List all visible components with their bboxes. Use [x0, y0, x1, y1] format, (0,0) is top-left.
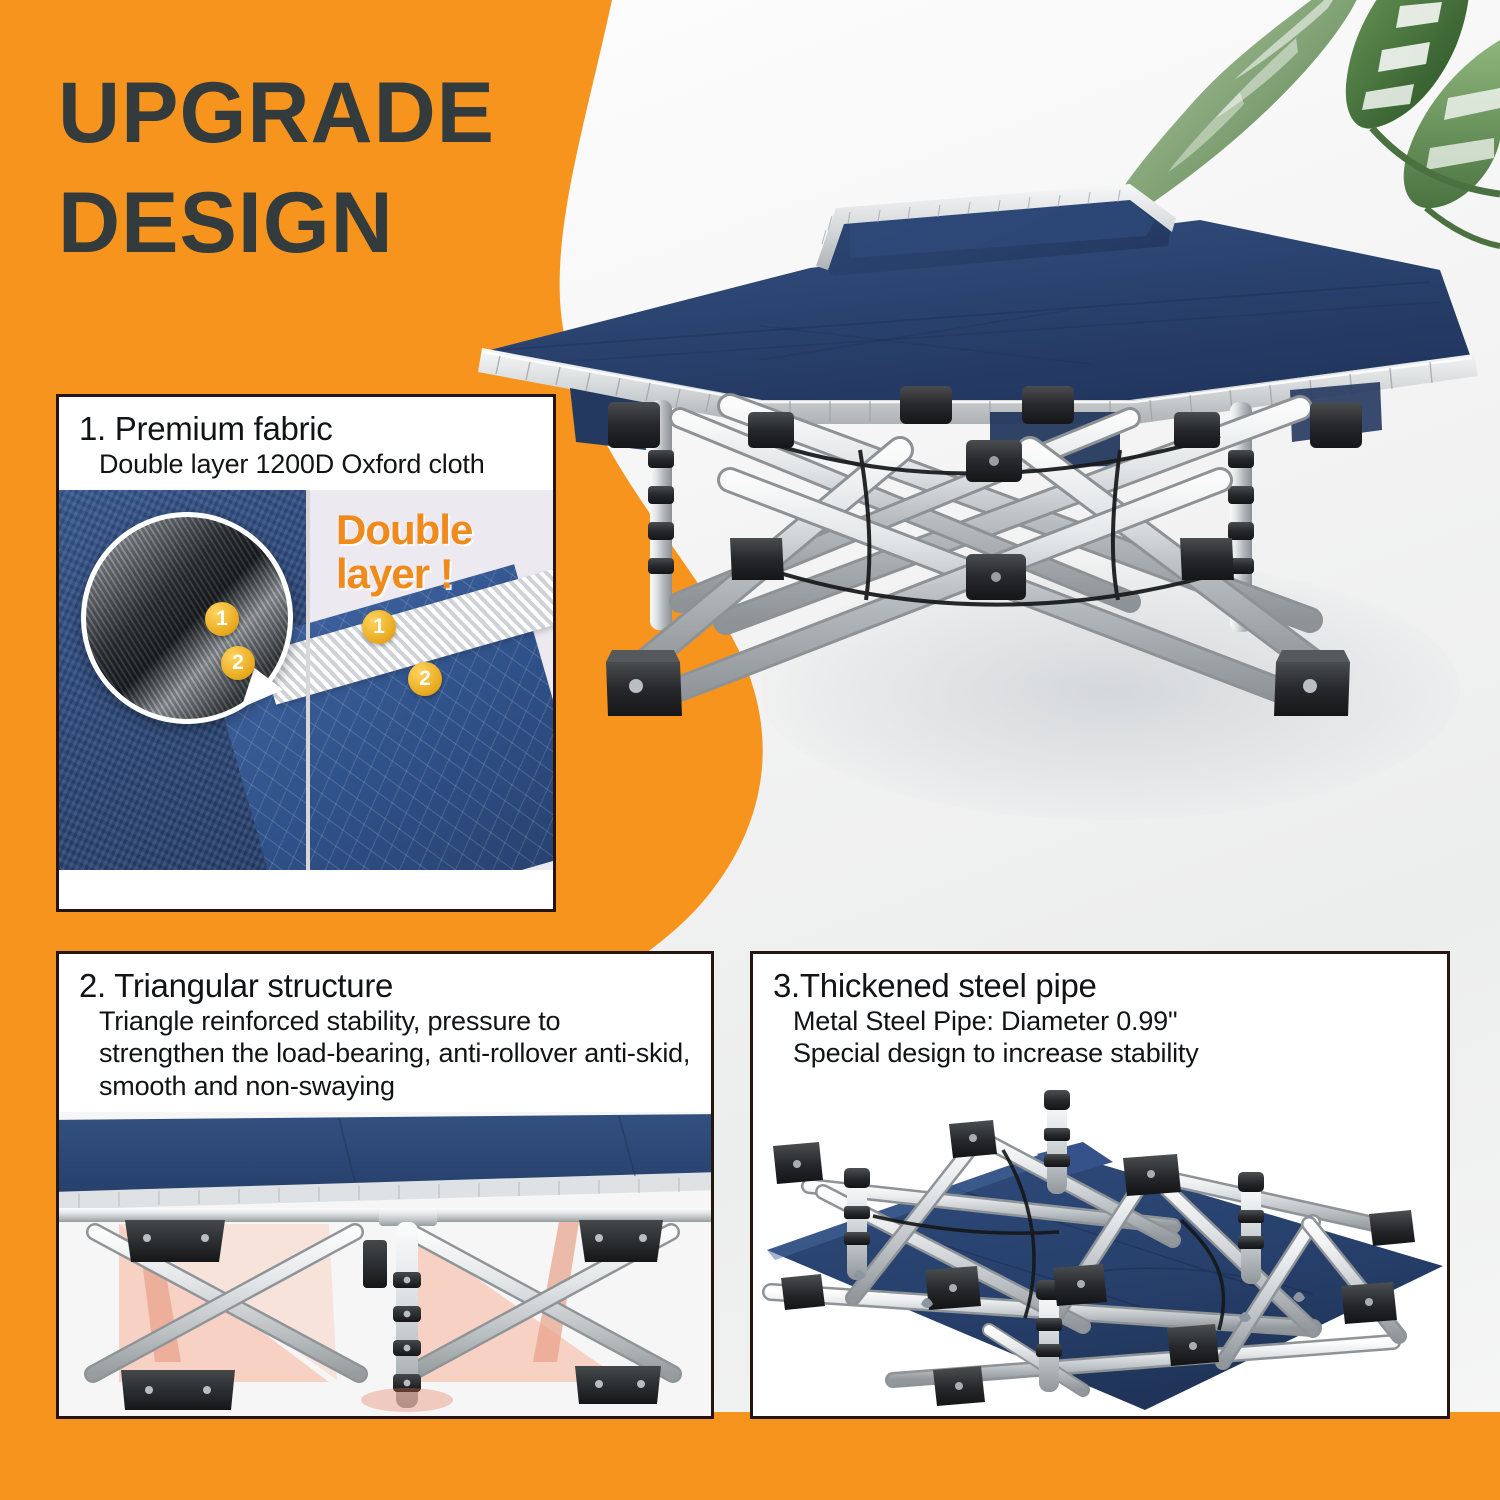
fabric-photo-right: Double layer ! 1 2	[306, 490, 553, 870]
card-title-steel: 3.Thickened steel pipe	[773, 968, 1429, 1005]
card-header-steel: 3.Thickened steel pipe Metal Steel Pipe:…	[753, 954, 1447, 1080]
background-orange-bottom-bar	[0, 1412, 1500, 1500]
card-header-triangle: 2. Triangular structure Triangle reinfor…	[59, 954, 711, 1112]
page-title: UPGRADE DESIGN	[58, 58, 618, 278]
card-header-fabric: 1. Premium fabric Double layer 1200D Oxf…	[59, 397, 553, 490]
feature-card-steel-pipe: 3.Thickened steel pipe Metal Steel Pipe:…	[750, 951, 1450, 1419]
feature-card-premium-fabric: 1. Premium fabric Double layer 1200D Oxf…	[56, 394, 556, 912]
card-photo-steel	[753, 1080, 1447, 1412]
card-subtitle-steel-line2: Special design to increase stability	[773, 1037, 1429, 1069]
triangle-structure-illustration	[59, 1112, 711, 1419]
card-title-triangle: 2. Triangular structure	[79, 968, 693, 1005]
card-subtitle-steel-line1: Metal Steel Pipe: Diameter 0.99"	[773, 1005, 1429, 1037]
feature-card-triangular-structure: 2. Triangular structure Triangle reinfor…	[56, 951, 714, 1419]
card-title-fabric: 1. Premium fabric	[79, 411, 535, 448]
card-photo-fabric: Double layer ! 1 2 1 2	[59, 490, 553, 870]
infographic-poster: UPGRADE DESIGN	[0, 0, 1500, 1500]
photo-divider	[306, 490, 310, 870]
card-subtitle-fabric: Double layer 1200D Oxford cloth	[79, 448, 535, 480]
card-photo-triangle	[59, 1112, 711, 1419]
title-line-1: UPGRADE	[58, 58, 618, 168]
steel-frame-illustration	[753, 1080, 1447, 1412]
card-subtitle-triangle: Triangle reinforced stability, pressure …	[79, 1005, 693, 1102]
title-line-2: DESIGN	[58, 168, 618, 278]
double-layer-callout-text: Double layer !	[336, 508, 553, 595]
